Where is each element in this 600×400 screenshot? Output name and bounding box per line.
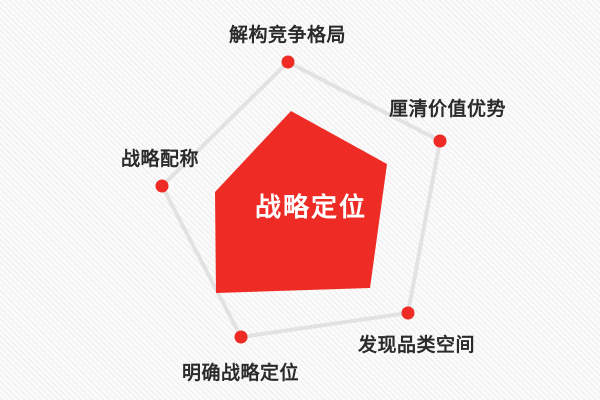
node-label-bottom: 明确战略定位 <box>182 361 299 385</box>
node-label-upper-left: 战略配称 <box>121 147 199 171</box>
node-label-upper-right: 厘清价值优势 <box>389 97 506 121</box>
node-dot-upper-right[interactable] <box>434 135 447 148</box>
node-dot-lower-right[interactable] <box>402 307 415 320</box>
node-dot-top[interactable] <box>282 56 295 69</box>
node-dot-upper-left[interactable] <box>156 180 169 193</box>
node-dot-bottom[interactable] <box>235 331 248 344</box>
diagram-canvas: 解构竞争格局 厘清价值优势 发现品类空间 明确战略定位 战略配称 战略定位 <box>0 0 600 400</box>
node-label-lower-right: 发现品类空间 <box>358 333 475 357</box>
center-pentagon-label: 战略定位 <box>255 192 367 224</box>
node-label-top: 解构竞争格局 <box>229 23 346 47</box>
